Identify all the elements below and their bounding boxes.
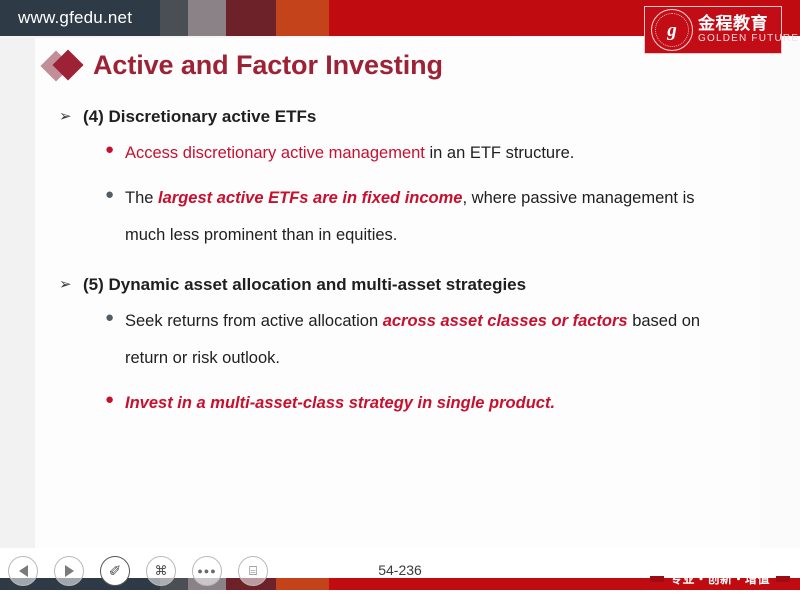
section-heading-4: ➢ (4) Discretionary active ETFs <box>53 104 753 129</box>
slide-body: Active and Factor Investing ➢ (4) Discre… <box>0 38 800 548</box>
bullet-item: ● Seek returns from active allocation ac… <box>53 303 753 377</box>
slide-title-row: Active and Factor Investing <box>35 48 443 82</box>
section-heading-5: ➢ (5) Dynamic asset allocation and multi… <box>53 272 753 297</box>
tagline-cap-right <box>776 576 790 582</box>
spacer <box>53 258 753 272</box>
seal-icon: g <box>651 9 693 51</box>
footer-tagline: 专业・创新・增值 <box>650 570 790 587</box>
bullet-text-part: Invest in a multi-asset-class strategy i… <box>125 394 555 412</box>
bullet-text: The largest active ETFs are in fixed inc… <box>125 180 725 254</box>
bullet-text: Seek returns from active allocation acro… <box>125 303 725 377</box>
bullet-text: Invest in a multi-asset-class strategy i… <box>125 385 555 422</box>
color-block-3 <box>226 0 276 36</box>
footer-color-block-5 <box>276 578 329 590</box>
bullet-text-part: in an ETF structure. <box>425 144 574 162</box>
arrow-marker-icon: ➢ <box>53 272 83 297</box>
arrow-marker-icon: ➢ <box>53 104 83 129</box>
section-heading-text: (4) Discretionary active ETFs <box>83 104 316 129</box>
bullet-dot-icon: ● <box>105 385 125 415</box>
right-margin-strip <box>760 38 800 548</box>
bullet-item: ● Access discretionary active management… <box>53 135 753 172</box>
bullet-text-part: The <box>125 189 158 207</box>
bullet-dot-icon: ● <box>105 180 125 210</box>
bullet-text-part: Seek returns from active allocation <box>125 312 383 330</box>
color-block-2 <box>188 0 226 36</box>
tagline-text: 专业・创新・增值 <box>670 570 770 587</box>
brand-logo: g 金程教育 GOLDEN FUTURE <box>644 6 782 54</box>
slide-content-panel: Active and Factor Investing ➢ (4) Discre… <box>35 38 760 548</box>
bullet-item: ● The largest active ETFs are in fixed i… <box>53 180 753 254</box>
seal-monogram: g <box>667 21 677 40</box>
bullet-text-part: Access discretionary active management <box>125 144 425 162</box>
color-block-1 <box>160 0 188 36</box>
tagline-cap-left <box>650 576 664 582</box>
logo-name-en: GOLDEN FUTURE <box>698 33 799 45</box>
bullet-item: ● Invest in a multi-asset-class strategy… <box>53 385 753 422</box>
logo-text-group: 金程教育 GOLDEN FUTURE <box>698 15 799 45</box>
color-block-4 <box>276 0 329 36</box>
url-block: www.gfedu.net <box>0 0 160 36</box>
logo-name-cn: 金程教育 <box>698 15 799 33</box>
bullet-text: Access discretionary active management i… <box>125 135 574 172</box>
slide-content-list: ➢ (4) Discretionary active ETFs ● Access… <box>53 104 753 426</box>
diamond-bullet-icon <box>35 48 93 82</box>
bullet-dot-icon: ● <box>105 303 125 333</box>
section-heading-text: (5) Dynamic asset allocation and multi-a… <box>83 272 526 297</box>
bullet-dot-icon: ● <box>105 135 125 165</box>
left-margin-strip <box>0 38 35 548</box>
site-url: www.gfedu.net <box>18 8 132 28</box>
bullet-text-part: across asset classes or factors <box>383 312 628 330</box>
bullet-text-part: largest active ETFs are in fixed income <box>158 189 462 207</box>
page-title: Active and Factor Investing <box>93 50 443 81</box>
